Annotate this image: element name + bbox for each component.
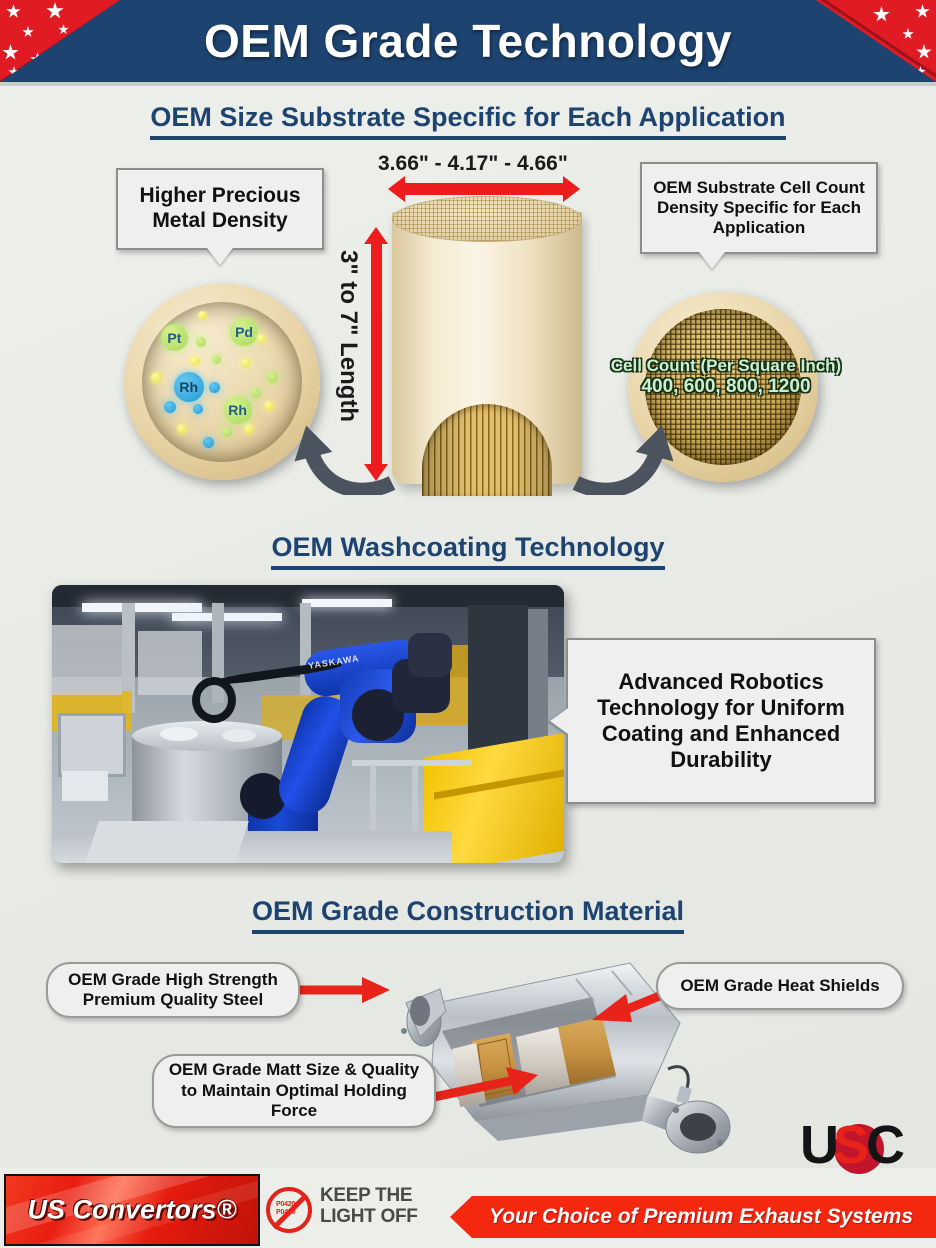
tagline-banner: Your Choice of Premium Exhaust Systems — [450, 1196, 936, 1238]
callout-heat-shields-text: OEM Grade Heat Shields — [680, 976, 879, 996]
robotics-photo: YASKAWA — [52, 585, 564, 863]
usc-logo: U S C — [800, 1118, 920, 1180]
keep-light-off-text: KEEP THE LIGHT OFF — [320, 1186, 418, 1228]
metal-speck — [151, 372, 162, 383]
section-heading-washcoating: OEM Washcoating Technology — [0, 532, 936, 570]
brand-badge: US Convertors® — [4, 1174, 260, 1246]
page-title: OEM Grade Technology — [0, 0, 936, 82]
metal-speck — [241, 358, 251, 368]
keep-light-off-badge: P0420 P0430 KEEP THE LIGHT OFF — [266, 1184, 441, 1236]
substrate-cylinder — [392, 196, 582, 496]
metal-speck — [164, 401, 176, 413]
metal-particle-pt: Pt — [161, 324, 188, 351]
no-symbol-icon: P0420 P0430 — [266, 1187, 312, 1233]
callout-higher-precious-metal-density: Higher Precious Metal Density — [116, 168, 324, 250]
section-heading-construction: OEM Grade Construction Material — [0, 896, 936, 934]
metal-speck — [257, 334, 266, 343]
callout-matt-text: OEM Grade Matt Size & Quality to Maintai… — [166, 1060, 422, 1121]
callout-advanced-robotics-text: Advanced Robotics Technology for Uniform… — [578, 669, 864, 773]
metal-speck — [190, 356, 200, 366]
metal-speck — [177, 424, 187, 434]
callout-matt: OEM Grade Matt Size & Quality to Maintai… — [152, 1054, 436, 1128]
cylinder-top-face-honeycomb — [392, 196, 582, 242]
cell-count-label: Cell Count (Per Square Inch) — [586, 356, 866, 376]
metal-speck — [198, 311, 207, 320]
logo-letter-s: S — [833, 1118, 869, 1172]
width-dimension-label: 3.66" - 4.17" - 4.66" — [378, 152, 568, 176]
section-heading-substrate: OEM Size Substrate Specific for Each App… — [0, 102, 936, 140]
metal-speck — [251, 388, 261, 398]
metal-speck — [264, 401, 274, 411]
callout-oem-substrate-cell-count: OEM Substrate Cell Count Density Specifi… — [640, 162, 878, 254]
header-rule — [0, 82, 936, 86]
section-heading-washcoating-text: OEM Washcoating Technology — [271, 532, 664, 570]
section-heading-construction-text: OEM Grade Construction Material — [252, 896, 684, 934]
page-header: OEM Grade Technology — [0, 0, 936, 82]
arrow-to-steel — [292, 975, 392, 1005]
metal-speck — [222, 427, 232, 437]
metal-particle-rh-blue: Rh — [174, 372, 204, 402]
keep-light-line2: LIGHT OFF — [320, 1207, 418, 1228]
width-dimension-arrow — [404, 183, 564, 195]
callout-steel-text: OEM Grade High Strength Premium Quality … — [60, 970, 286, 1011]
callout-higher-precious-metal-density-text: Higher Precious Metal Density — [128, 184, 312, 234]
tagline-text: Your Choice of Premium Exhaust Systems — [473, 1205, 913, 1229]
curved-arrow-left — [280, 395, 400, 495]
metal-speck — [267, 372, 278, 383]
callout-steel: OEM Grade High Strength Premium Quality … — [46, 962, 300, 1018]
brand-name: US Convertors® — [6, 1195, 258, 1226]
arrow-to-matt — [434, 1063, 542, 1107]
metal-particle-pd: Pd — [230, 318, 258, 346]
metal-speck — [209, 382, 220, 393]
metal-particle-rh-green: Rh — [224, 396, 252, 424]
metal-speck — [203, 437, 214, 448]
callout-heat-shields: OEM Grade Heat Shields — [656, 962, 904, 1010]
callout-oem-substrate-cell-count-text: OEM Substrate Cell Count Density Specifi… — [652, 178, 866, 238]
keep-light-line1: KEEP THE — [320, 1186, 418, 1207]
metal-speck — [196, 337, 206, 347]
logo-letter-c: C — [866, 1118, 905, 1172]
metal-speck — [212, 355, 221, 364]
metal-speck — [244, 424, 254, 434]
callout-advanced-robotics: Advanced Robotics Technology for Uniform… — [566, 638, 876, 804]
precious-metal-disc-honeycomb: Pt Pd Rh Rh — [142, 302, 303, 463]
section-heading-substrate-text: OEM Size Substrate Specific for Each App… — [150, 102, 785, 140]
infographic-page: OEM Grade Technology OEM Size Substrate … — [0, 0, 936, 1248]
curved-arrow-right — [568, 395, 688, 495]
metal-speck — [193, 404, 203, 414]
